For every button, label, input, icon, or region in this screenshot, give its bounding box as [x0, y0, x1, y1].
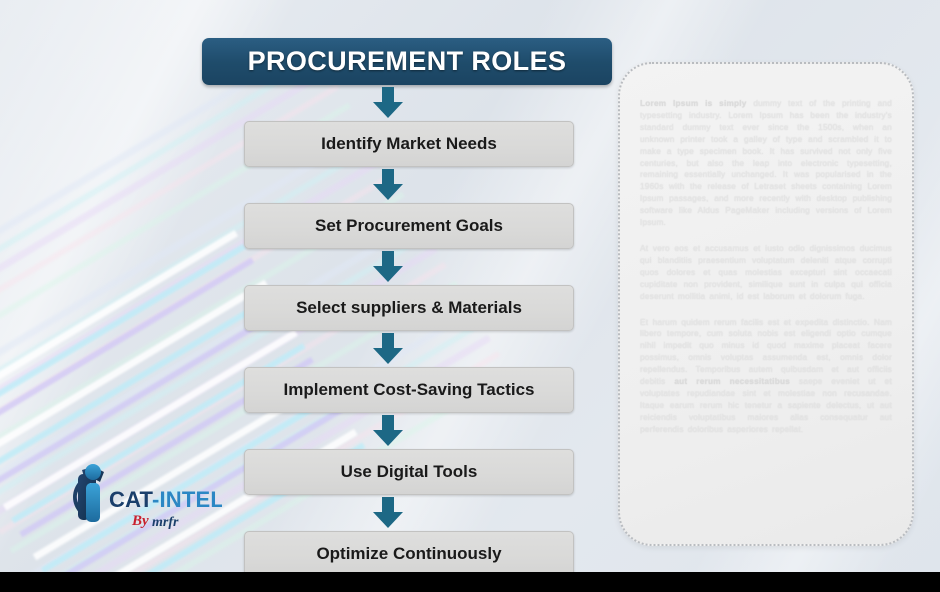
flow-step-3[interactable]: Select suppliers & Materials: [244, 285, 574, 331]
svg-text:CAT-INTEL: CAT-INTEL: [109, 487, 222, 512]
panel-paragraph-3-bold: aut rerum necessitatibus: [674, 377, 790, 386]
svg-text:By: By: [131, 513, 149, 529]
flow-step-2[interactable]: Set Procurement Goals: [244, 203, 574, 249]
panel-paragraph-1: Lorem Ipsum is simply dummy text of the …: [640, 98, 892, 229]
flow-step-1[interactable]: Identify Market Needs: [244, 121, 574, 167]
placeholder-text-panel: Lorem Ipsum is simply dummy text of the …: [618, 62, 914, 546]
panel-paragraph-3: Et harum quidem rerum facilis est et exp…: [640, 317, 892, 436]
panel-paragraph-3-part-a: Et harum quidem rerum facilis est et exp…: [640, 318, 892, 387]
flow-step-6[interactable]: Optimize Continuously: [244, 531, 574, 572]
flow-arrow-1: [202, 85, 574, 121]
flow-arrow-5: [202, 413, 574, 449]
flow-step-5[interactable]: Use Digital Tools: [244, 449, 574, 495]
flow-arrow-2: [202, 167, 574, 203]
flow-step-4[interactable]: Implement Cost-Saving Tactics: [244, 367, 574, 413]
logo-person-i: [85, 464, 101, 522]
slide-canvas: PROCUREMENT ROLES Identify Market Needs …: [0, 0, 940, 572]
flow-arrow-3: [202, 249, 574, 285]
page-title: PROCUREMENT ROLES: [202, 38, 612, 85]
panel-paragraph-2: At vero eos et accusamus et iusto odio d…: [640, 243, 892, 303]
panel-paragraph-1-body: dummy text of the printing and typesetti…: [640, 99, 892, 227]
flow-arrow-6: [202, 495, 574, 531]
svg-text:mrfr: mrfr: [152, 515, 179, 530]
cat-intel-logo[interactable]: CAT-INTEL By mrfr: [52, 462, 222, 538]
panel-paragraph-1-lead: Lorem Ipsum is simply: [640, 99, 747, 108]
procurement-flowchart: PROCUREMENT ROLES Identify Market Needs …: [202, 38, 574, 572]
flow-arrow-4: [202, 331, 574, 367]
